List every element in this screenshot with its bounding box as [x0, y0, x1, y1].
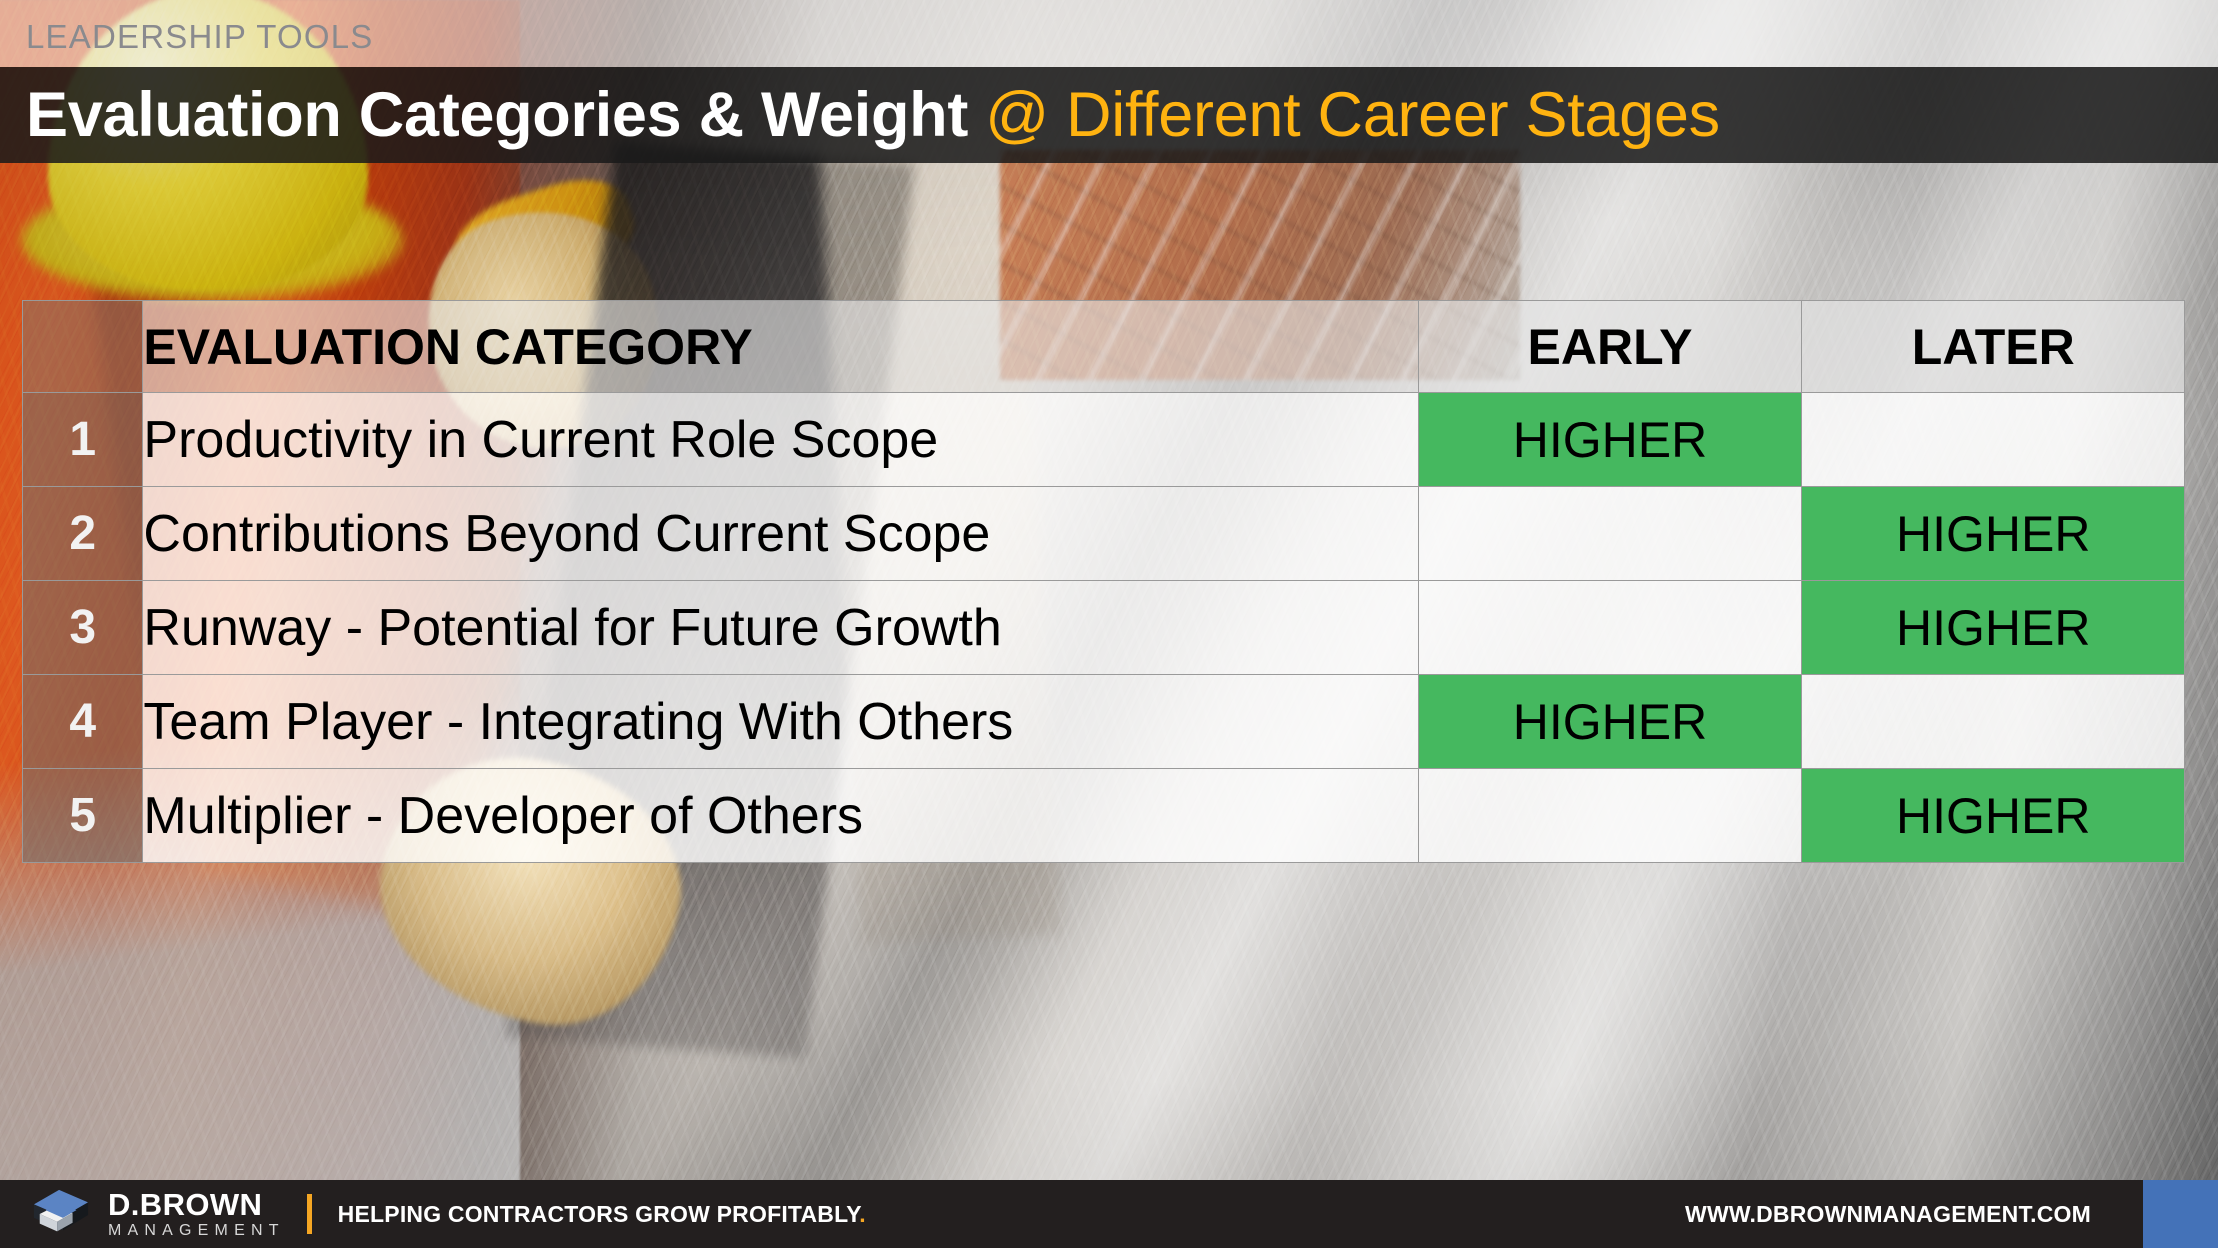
title-bar: Evaluation Categories & Weight @ Differe… — [0, 67, 2218, 163]
header-category: EVALUATION CATEGORY — [143, 301, 1418, 393]
row-early-weight: HIGHER — [1418, 393, 1802, 487]
row-later-weight — [1802, 675, 2185, 769]
table-body: 1Productivity in Current Role ScopeHIGHE… — [23, 393, 2185, 863]
header-number-cell — [23, 301, 143, 393]
page-title: Evaluation Categories & Weight @ Differe… — [0, 84, 1720, 147]
header-later: LATER — [1802, 301, 2185, 393]
row-later-weight: HIGHER — [1802, 769, 2185, 863]
table-row: 5Multiplier - Developer of OthersHIGHER — [23, 769, 2185, 863]
dbrown-logo-icon — [30, 1185, 92, 1243]
row-early-weight — [1418, 487, 1802, 581]
row-early-weight — [1418, 769, 1802, 863]
footer-tagline-text: HELPING CONTRACTORS GROW PROFITABLY — [338, 1201, 860, 1227]
footer-tagline-dot: . — [859, 1201, 866, 1227]
footer-divider — [307, 1194, 312, 1234]
row-number: 3 — [23, 581, 143, 675]
evaluation-table: EVALUATION CATEGORY EARLY LATER 1Product… — [22, 300, 2185, 863]
row-later-weight — [1802, 393, 2185, 487]
page-title-accent: @ Different Career Stages — [985, 80, 1720, 150]
row-category: Runway - Potential for Future Growth — [143, 581, 1418, 675]
row-category: Team Player - Integrating With Others — [143, 675, 1418, 769]
footer-accent-block — [2143, 1180, 2218, 1248]
row-number: 5 — [23, 769, 143, 863]
table-row: 2Contributions Beyond Current ScopeHIGHE… — [23, 487, 2185, 581]
brand-name: D.BROWN — [108, 1189, 285, 1220]
slide: LEADERSHIP TOOLS Evaluation Categories &… — [0, 0, 2218, 1248]
row-number: 2 — [23, 487, 143, 581]
table-row: 4Team Player - Integrating With OthersHI… — [23, 675, 2185, 769]
brand-logo[interactable]: D.BROWN MANAGEMENT — [0, 1185, 285, 1243]
row-category: Contributions Beyond Current Scope — [143, 487, 1418, 581]
row-category: Productivity in Current Role Scope — [143, 393, 1418, 487]
brand-subtitle: MANAGEMENT — [108, 1223, 285, 1239]
brand-wordmark: D.BROWN MANAGEMENT — [108, 1189, 285, 1239]
eyebrow-label: LEADERSHIP TOOLS — [26, 18, 374, 56]
page-title-primary: Evaluation Categories & Weight — [26, 80, 985, 150]
footer-website-url[interactable]: WWW.DBROWNMANAGEMENT.COM — [1685, 1201, 2143, 1228]
row-number: 1 — [23, 393, 143, 487]
header-early: EARLY — [1418, 301, 1802, 393]
footer-bar: D.BROWN MANAGEMENT HELPING CONTRACTORS G… — [0, 1180, 2218, 1248]
table-row: 3Runway - Potential for Future GrowthHIG… — [23, 581, 2185, 675]
row-later-weight: HIGHER — [1802, 487, 2185, 581]
footer-tagline: HELPING CONTRACTORS GROW PROFITABLY. — [338, 1201, 866, 1228]
row-later-weight: HIGHER — [1802, 581, 2185, 675]
row-early-weight: HIGHER — [1418, 675, 1802, 769]
table-header-row: EVALUATION CATEGORY EARLY LATER — [23, 301, 2185, 393]
row-number: 4 — [23, 675, 143, 769]
table-row: 1Productivity in Current Role ScopeHIGHE… — [23, 393, 2185, 487]
row-category: Multiplier - Developer of Others — [143, 769, 1418, 863]
row-early-weight — [1418, 581, 1802, 675]
